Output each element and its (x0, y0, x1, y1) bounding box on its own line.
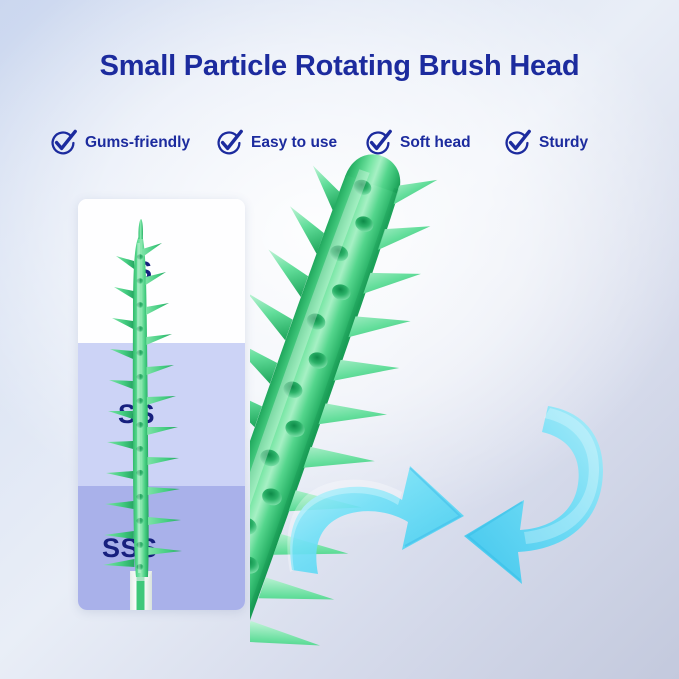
check-circle-icon (214, 128, 244, 158)
size-band-label: SS (118, 401, 155, 428)
check-circle-icon (363, 128, 393, 158)
feature-badge-list: Gums-friendly Easy to use Soft head Stur… (40, 126, 640, 160)
product-brush-highlight (250, 168, 370, 649)
size-band-label: SSS (102, 535, 158, 562)
feature-badge-easy-to-use: Easy to use (214, 126, 337, 160)
rotation-arrow-upper (287, 466, 464, 574)
product-brush-particles (250, 177, 394, 645)
check-circle-icon (48, 128, 78, 158)
size-band-sss: SSS (78, 486, 245, 610)
product-brush-edge-shadow (250, 188, 403, 668)
page-title: Small Particle Rotating Brush Head (0, 50, 679, 83)
feature-badge-soft-head: Soft head (363, 126, 471, 160)
rotation-arrow-lower (464, 406, 603, 584)
product-brush-spikes-left (250, 153, 345, 643)
product-brush-illustration (250, 150, 679, 679)
product-brush-spikes-right (250, 169, 480, 667)
size-band-s: S (78, 199, 245, 343)
feature-badge-sturdy: Sturdy (502, 126, 588, 160)
size-chart-panel: S SS SSS (78, 199, 245, 610)
feature-badge-gums-friendly: Gums-friendly (48, 126, 190, 160)
check-circle-icon (502, 128, 532, 158)
feature-badge-label: Soft head (400, 135, 471, 151)
product-infographic: Small Particle Rotating Brush Head Gums-… (0, 0, 679, 679)
size-band-label: S (134, 258, 153, 285)
product-brush-shaft (250, 174, 401, 671)
product-brush-body-group (250, 150, 481, 679)
feature-badge-label: Sturdy (539, 135, 588, 151)
feature-badge-label: Easy to use (251, 135, 337, 151)
feature-badge-label: Gums-friendly (85, 135, 190, 151)
size-band-ss: SS (78, 343, 245, 486)
